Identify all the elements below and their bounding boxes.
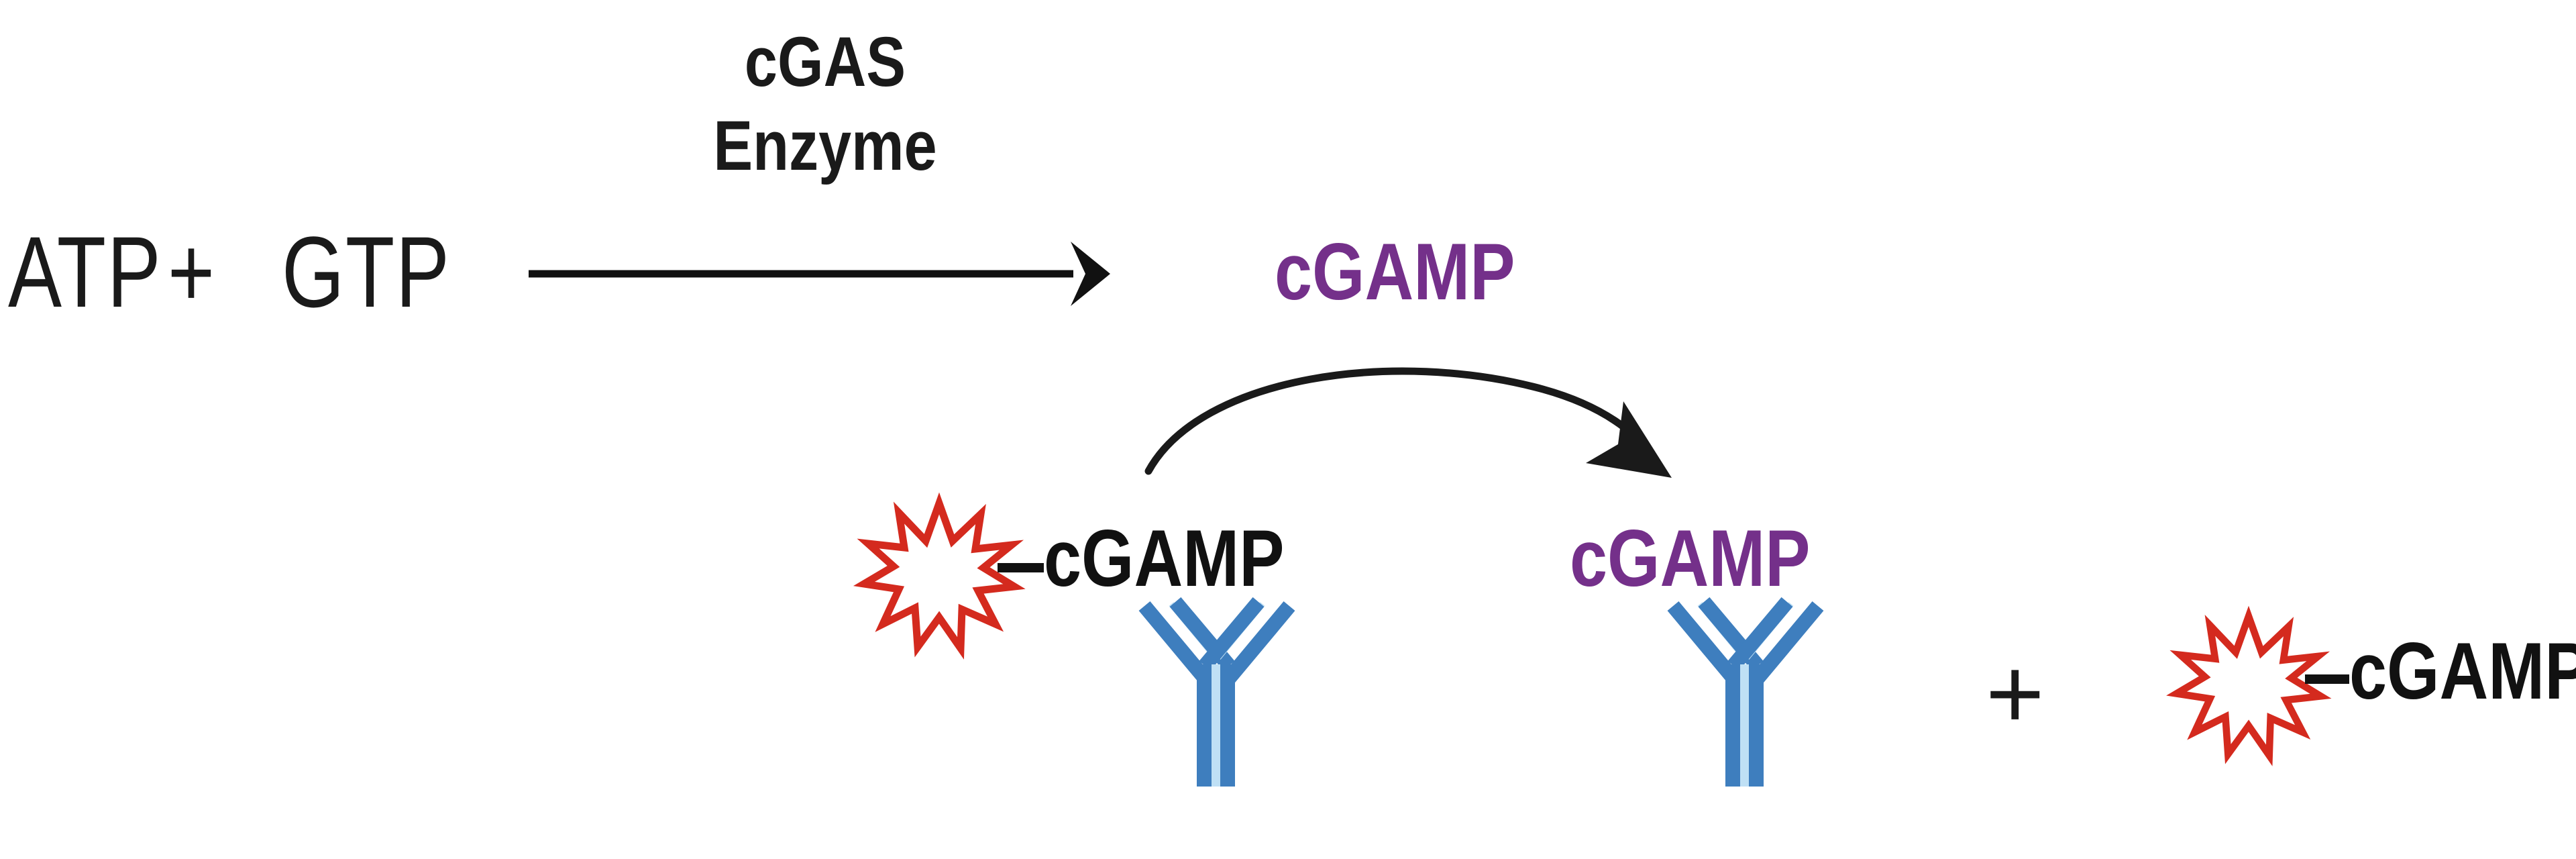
curved-arrow-icon	[1148, 371, 1672, 478]
antibody-icon-left	[1144, 602, 1289, 787]
product-cgamp-label: cGAMP	[1275, 232, 1515, 312]
bound-tracer-cgamp-label: cGAMP	[1044, 518, 1284, 599]
straight-arrow-icon	[529, 242, 1110, 306]
products-plus-sign: +	[1986, 643, 2045, 744]
free-tracer-cgamp-label: cGAMP	[2349, 631, 2576, 711]
diagram-canvas: ATP + GTP cGAS Enzyme	[0, 0, 2576, 859]
starburst-icon-left	[864, 503, 1014, 648]
antibody-icon-right	[1673, 602, 1818, 787]
bound-analyte-cgamp-label: cGAMP	[1570, 518, 1810, 599]
starburst-icon-right	[2176, 616, 2320, 755]
